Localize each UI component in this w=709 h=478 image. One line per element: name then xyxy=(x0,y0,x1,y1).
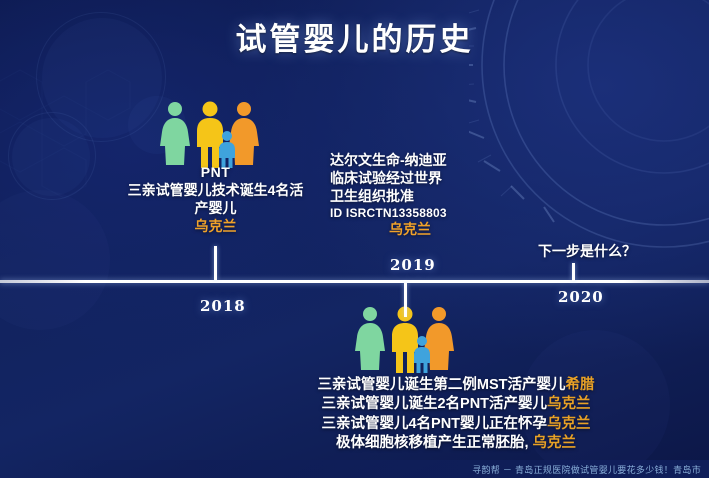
event-2019-line-2: 临床试验经过世界 xyxy=(330,170,490,188)
decorative-ring xyxy=(8,112,96,200)
footer-watermark-text: 寻韵帮 － 青岛正规医院做试管婴儿要花多少钱！青岛市 xyxy=(472,463,701,476)
footer-watermark-bar: 寻韵帮 － 青岛正规医院做试管婴儿要花多少钱！青岛市 xyxy=(0,460,709,478)
figure-woman-green xyxy=(160,102,190,165)
detail-row-country: 希腊 xyxy=(566,377,595,393)
detail-row-text: 三亲试管婴儿4名PNT婴儿正在怀孕 xyxy=(321,416,547,432)
slide-canvas: 试管婴儿的历史 xyxy=(0,0,709,478)
page-title: 试管婴儿的历史 xyxy=(0,14,709,59)
event-2019-line-1: 达尔文生命-纳迪亚 xyxy=(330,152,490,170)
timeline-tick-2020 xyxy=(572,263,575,281)
event-2018-line-2: 产婴儿 xyxy=(108,200,323,218)
detail-row: 极体细胞核移植产生正常胚胎, 乌克兰 xyxy=(290,434,622,453)
event-2019-country: 乌克兰 xyxy=(330,221,490,239)
detail-row: 三亲试管婴儿4名PNT婴儿正在怀孕乌克兰 xyxy=(290,415,622,434)
event-2018-country: 乌克兰 xyxy=(108,218,323,236)
detail-row-text: 三亲试管婴儿诞生第二例MST活产婴儿 xyxy=(317,377,565,393)
timeline-year-2020: 2020 xyxy=(558,288,604,306)
detail-row: 三亲试管婴儿诞生第二例MST活产婴儿希腊 xyxy=(290,376,622,395)
next-step-question: 下一步是什么？ xyxy=(512,243,662,261)
detail-row-text: 极体细胞核移植产生正常胚胎, xyxy=(336,435,529,451)
bokeh-circle xyxy=(12,118,90,196)
event-2018-title: PNT xyxy=(108,164,323,182)
figure-man-yellow xyxy=(197,102,223,169)
event-2018-line-1: 三亲试管婴儿技术诞生4名活 xyxy=(108,182,323,200)
event-block-2019: 达尔文生命-纳迪亚 临床试验经过世界 卫生组织批准 ID ISRCTN13358… xyxy=(330,152,490,239)
event-block-2018: PNT 三亲试管婴儿技术诞生4名活 产婴儿 乌克兰 xyxy=(108,164,323,236)
timeline-year-2018: 2018 xyxy=(200,297,246,315)
detail-row-country: 乌克兰 xyxy=(547,396,591,412)
bokeh-circle xyxy=(0,190,110,330)
detail-row: 三亲试管婴儿诞生2名PNT活产婴儿乌克兰 xyxy=(290,395,622,414)
timeline-tick-2018 xyxy=(214,246,217,280)
event-2019-line-3: 卫生组织批准 xyxy=(330,188,490,206)
timeline-tick-2019 xyxy=(404,283,407,317)
detail-row-text: 三亲试管婴儿诞生2名PNT活产婴儿 xyxy=(321,396,547,412)
event-2019-trial-id: ID ISRCTN13358803 xyxy=(330,206,490,221)
timeline-axis xyxy=(0,280,709,283)
detail-row-country: 乌克兰 xyxy=(547,416,591,432)
timeline-year-2019: 2019 xyxy=(390,256,436,274)
figure-woman-green xyxy=(355,307,385,370)
event-block-2020: 下一步是什么？ xyxy=(512,243,662,261)
detail-row-country: 乌克兰 xyxy=(533,435,577,451)
event-block-2019-details: 三亲试管婴儿诞生第二例MST活产婴儿希腊 三亲试管婴儿诞生2名PNT活产婴儿乌克… xyxy=(290,376,622,454)
family-figures-2018 xyxy=(158,100,262,168)
